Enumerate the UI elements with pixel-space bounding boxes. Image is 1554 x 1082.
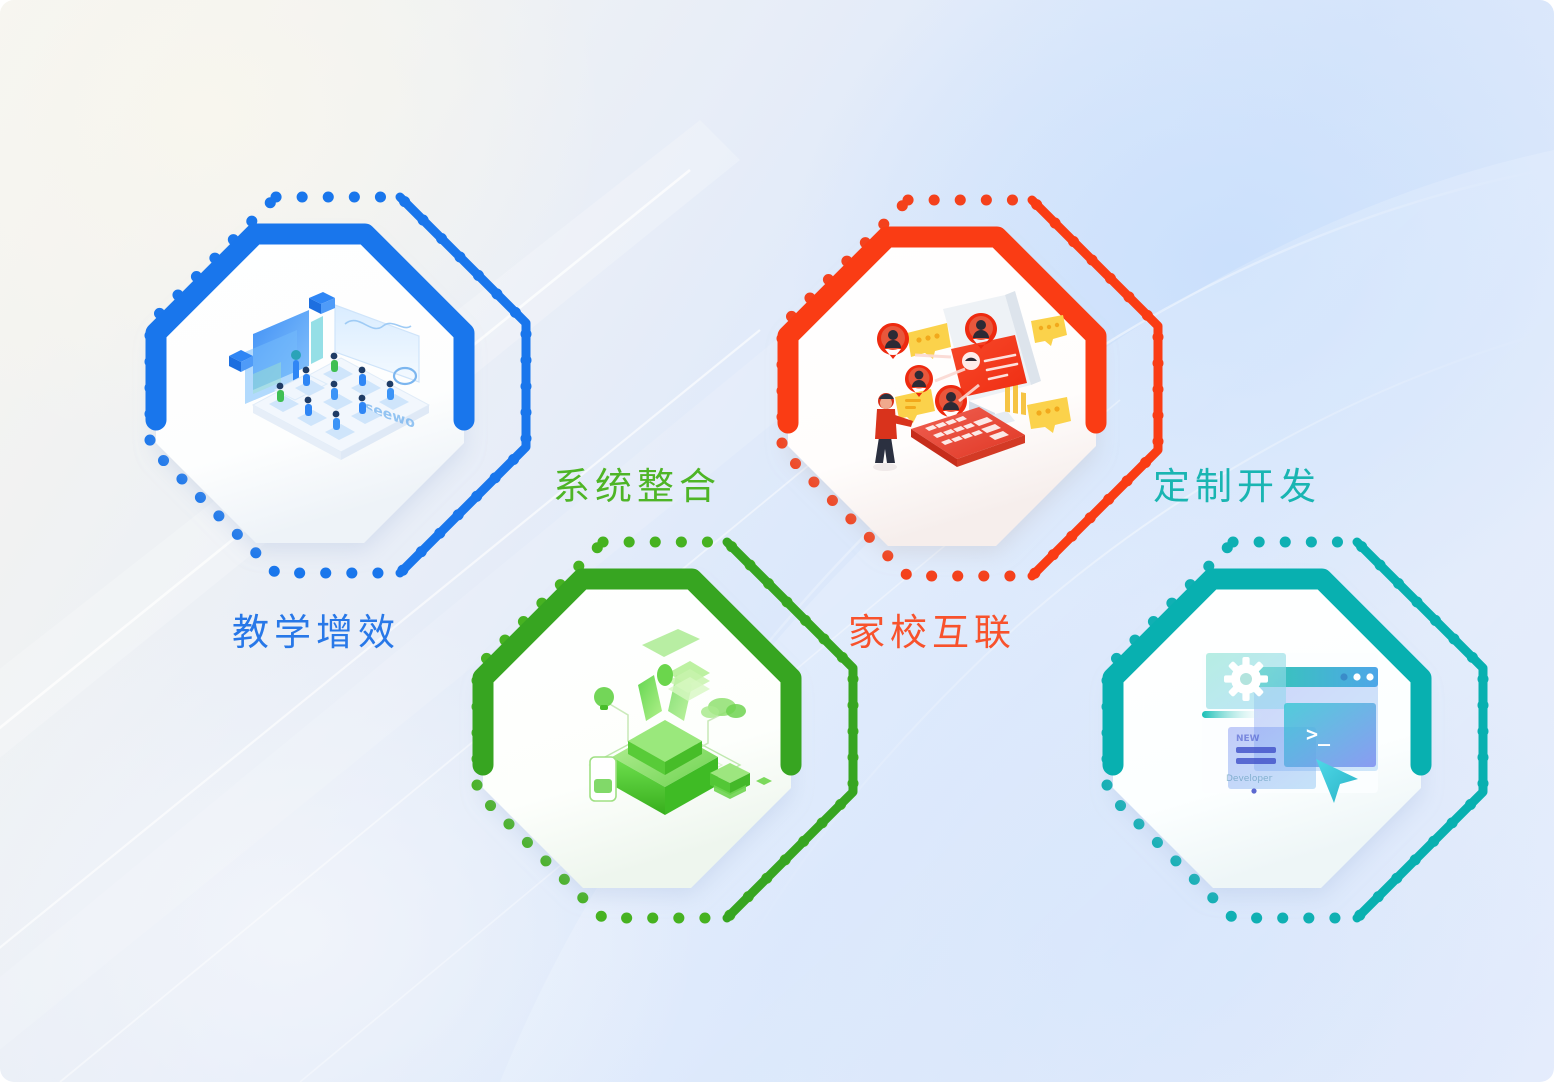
illustration-data-hub bbox=[550, 615, 780, 845]
label-integration: 系统整合 bbox=[553, 456, 721, 510]
accent-bar bbox=[1202, 711, 1264, 718]
label-homeschool: 家校互联 bbox=[848, 602, 1016, 656]
illustration-developer-workspace: NEW Developer >_ bbox=[1180, 615, 1410, 845]
infographic-canvas: seewo bbox=[0, 0, 1554, 1082]
illustration-smart-classroom: seewo bbox=[223, 270, 453, 500]
node-custom[interactable]: NEW Developer >_ bbox=[1085, 520, 1505, 940]
label-teaching: 教学增效 bbox=[232, 602, 400, 656]
terminal-window: >_ bbox=[1284, 703, 1376, 767]
label-custom: 定制开发 bbox=[1153, 456, 1321, 510]
panel-text-developer: Developer bbox=[1226, 774, 1273, 784]
gear-card bbox=[1206, 653, 1286, 709]
lightbulb-node bbox=[594, 687, 614, 710]
data-arms bbox=[638, 629, 710, 721]
gear-icon bbox=[1224, 657, 1268, 701]
database-stack-node bbox=[710, 763, 772, 799]
terminal-prompt: >_ bbox=[1306, 722, 1331, 746]
cloud-node bbox=[701, 698, 746, 718]
illustration-communication-board bbox=[855, 273, 1085, 503]
smartphone-node bbox=[590, 757, 616, 801]
panel-text-new: NEW bbox=[1236, 734, 1260, 744]
